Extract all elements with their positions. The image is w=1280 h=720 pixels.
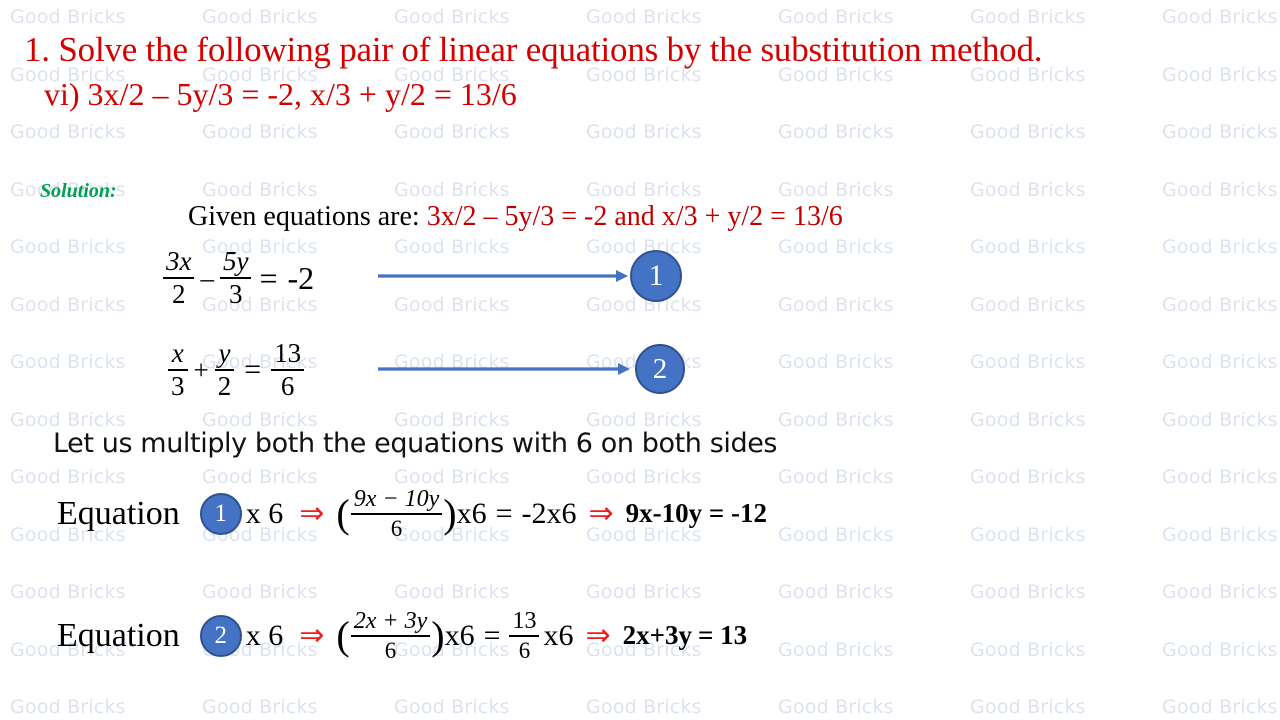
step-1-close-paren: ) xyxy=(443,496,456,532)
implies-icon: ⇒ xyxy=(299,618,324,653)
step-1-badge[interactable]: 1 xyxy=(200,493,242,535)
step-1-equation-word: Equation xyxy=(57,495,180,533)
equation-1-operator: – xyxy=(200,263,214,294)
step-1-times-six: x6 xyxy=(457,497,487,531)
equation-2-rhs-denominator: 6 xyxy=(278,373,298,400)
implies-icon: ⇒ xyxy=(299,496,324,531)
equation-1-fraction-2: 5y 3 xyxy=(220,248,251,308)
multiply-step-1-row: Equation 1 x 6 ⇒ ( 9x − 10y 6 ) x6 = -2x… xyxy=(57,487,767,540)
equation-1-frac2-denominator: 3 xyxy=(226,281,246,308)
step-2-rhs-numerator: 13 xyxy=(509,609,539,633)
step-2-fraction-numerator: 2x + 3y xyxy=(351,609,431,633)
equation-1-expression: 3x 2 – 5y 3 = -2 xyxy=(163,248,314,308)
step-1-fraction: 9x − 10y 6 xyxy=(351,487,443,540)
step-2-fraction-denominator: 6 xyxy=(382,639,400,662)
equation-2-frac1-numerator: x xyxy=(169,340,187,367)
equation-number-badge-1[interactable]: 1 xyxy=(630,250,682,302)
connector-arrow-1 xyxy=(378,266,628,286)
fraction-bar xyxy=(351,513,443,515)
instruction-text: Let us multiply both the equations with … xyxy=(53,428,777,459)
given-equations-line: Given equations are: 3x/2 – 5y/3 = -2 an… xyxy=(188,201,843,233)
step-2-rhs-denominator: 6 xyxy=(516,639,534,662)
problem-statement: vi) 3x/2 – 5y/3 = -2, x/3 + y/2 = 13/6 xyxy=(44,76,517,113)
step-1-times-label: x 6 xyxy=(246,497,284,531)
step-2-rhs-fraction: 13 6 xyxy=(509,609,539,662)
step-2-fraction: 2x + 3y 6 xyxy=(351,609,431,662)
equation-1-frac2-numerator: 5y xyxy=(220,248,251,275)
step-1-result: 9x-10y = -12 xyxy=(626,498,767,529)
equation-1-equals: = xyxy=(259,260,277,297)
fraction-bar xyxy=(509,635,539,637)
equation-2-rhs-fraction: 13 6 xyxy=(271,340,304,400)
equation-number-badge-2[interactable]: 2 xyxy=(635,344,685,394)
slide-canvas: Good BricksGood BricksGood BricksGood Br… xyxy=(0,0,1280,720)
step-1-rhs: -2x6 xyxy=(521,497,576,531)
slide-content: 1. Solve the following pair of linear eq… xyxy=(0,0,1280,720)
step-2-times-label: x 6 xyxy=(246,619,284,653)
step-2-badge[interactable]: 2 xyxy=(200,615,242,657)
step-2-equals: = xyxy=(484,619,501,653)
equation-1-frac1-numerator: 3x xyxy=(163,248,194,275)
step-1-equals: = xyxy=(496,497,513,531)
solution-label: Solution: xyxy=(40,180,117,203)
step-1-fraction-denominator: 6 xyxy=(388,517,406,540)
multiply-step-2-row: Equation 2 x 6 ⇒ ( 2x + 3y 6 ) x6 = 13 6… xyxy=(57,609,747,662)
equation-1-frac1-denominator: 2 xyxy=(169,281,189,308)
step-2-close-paren: ) xyxy=(431,618,444,654)
step-2-result-main: 2x+3y xyxy=(623,620,692,651)
step-2-result-tail: = 13 xyxy=(698,620,747,651)
given-equations-value: 3x/2 – 5y/3 = -2 and x/3 + y/2 = 13/6 xyxy=(427,201,843,232)
equation-2-fraction-2: y 2 xyxy=(215,340,235,400)
equation-2-frac2-denominator: 2 xyxy=(215,373,235,400)
equation-2-fraction-1: x 3 xyxy=(168,340,188,400)
equation-2-operator: + xyxy=(194,355,209,386)
equation-2-frac2-numerator: y xyxy=(215,340,233,367)
implies-icon: ⇒ xyxy=(588,496,613,531)
equation-1-fraction-1: 3x 2 xyxy=(163,248,194,308)
connector-arrow-2 xyxy=(378,359,630,379)
equation-2-equals: = xyxy=(244,353,261,387)
step-2-times-six: x6 xyxy=(445,619,475,653)
step-1-fraction-numerator: 9x − 10y xyxy=(351,487,443,511)
step-2-open-paren: ( xyxy=(336,618,349,654)
equation-2-expression: x 3 + y 2 = 13 6 xyxy=(168,340,304,400)
implies-icon: ⇒ xyxy=(585,618,610,653)
step-2-rhs-times: x6 xyxy=(543,619,573,653)
equation-2-rhs-numerator: 13 xyxy=(271,340,304,367)
equation-1-rhs: -2 xyxy=(288,260,315,297)
given-prefix: Given equations are: xyxy=(188,201,427,232)
equation-2-frac1-denominator: 3 xyxy=(168,373,188,400)
page-title: 1. Solve the following pair of linear eq… xyxy=(24,30,1042,70)
step-2-equation-word: Equation xyxy=(57,617,180,655)
step-1-open-paren: ( xyxy=(336,496,349,532)
fraction-bar xyxy=(351,635,431,637)
